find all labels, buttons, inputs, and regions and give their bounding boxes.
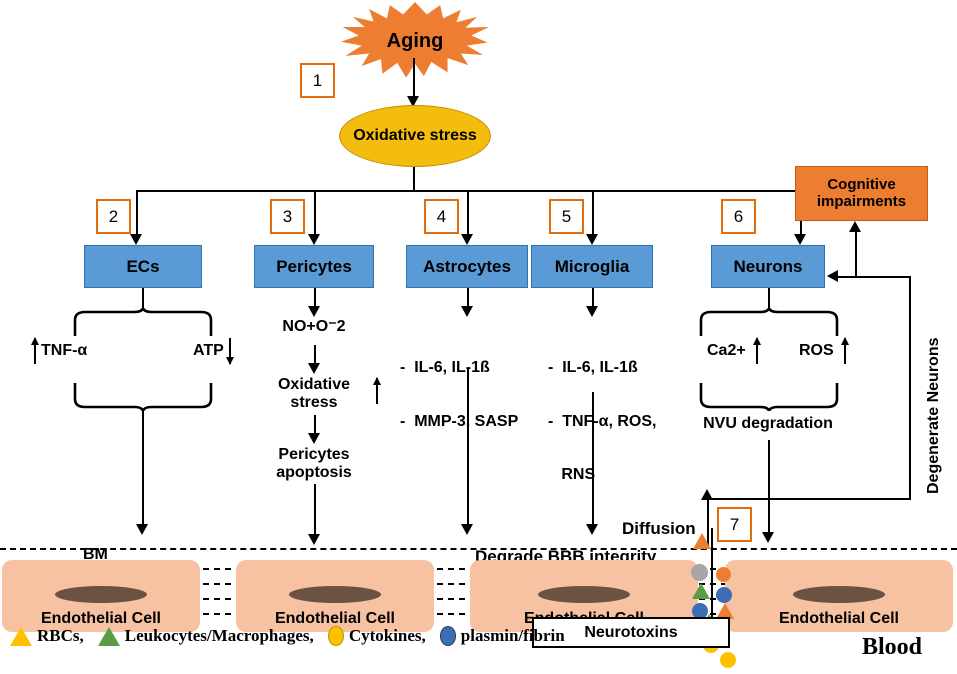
- pericytes-to-bbb-stem: [314, 484, 316, 536]
- astrocytes-item-2: - MMP-3, SASP: [400, 413, 518, 431]
- microglia-item-1: - IL-6, IL-1ß: [548, 359, 657, 377]
- degenerate-neurons-label: Degenerate Neurons: [925, 338, 943, 495]
- blood-label: Blood: [862, 634, 922, 661]
- cell-box-microglia[interactable]: Microglia: [531, 245, 653, 288]
- circle-blue-icon: [440, 626, 456, 646]
- nucleus-icon: [793, 586, 885, 603]
- oxidative-stress-label: Oxidative stress: [353, 128, 477, 145]
- step-6-value: 6: [734, 207, 743, 227]
- nucleus-icon: [538, 586, 630, 603]
- endothelial-cell-4: Endothelial Cell: [725, 560, 953, 632]
- ecs-marker-tnf-label: TNF-α: [41, 342, 87, 360]
- cell-box-pericytes[interactable]: Pericytes: [254, 245, 374, 288]
- neurons-to-bbb-stem: [768, 440, 770, 536]
- pericytes-no-o2-label: NO+O⁻2: [254, 318, 374, 336]
- up-arrow-icon: [30, 338, 40, 364]
- cell-box-ecs-label: ECs: [126, 257, 159, 277]
- particle-cytokine-icon-2: [720, 652, 736, 668]
- drop-head-astrocytes: [461, 234, 473, 245]
- step-number-5[interactable]: 5: [549, 199, 584, 234]
- tight-junction-2: [437, 568, 465, 628]
- step-number-7[interactable]: 7: [717, 507, 752, 542]
- aging-label: Aging: [341, 2, 489, 80]
- astrocytes-branch-head: [461, 306, 473, 317]
- neurons-marker-ros: ROS: [799, 338, 850, 364]
- figure-canvas: Aging 1 Oxidative stress 2 3 4 5 6 ECs P…: [0, 0, 957, 674]
- up-arrow-icon: [752, 338, 762, 364]
- cell-box-microglia-label: Microglia: [555, 257, 630, 277]
- pericytes-step3-head: [308, 433, 320, 444]
- drop-head-neurons: [794, 234, 806, 245]
- neurons-branch-stem: [768, 288, 770, 310]
- cell-box-neurons[interactable]: Neurons: [711, 245, 825, 288]
- ecs-marker-tnf: TNF-α: [30, 338, 87, 364]
- arrow-to-cognitive-stem: [855, 232, 857, 278]
- particle-plasmin-circle-icon: [716, 587, 732, 603]
- arrow-to-cognitive-head: [849, 221, 861, 232]
- endothelial-cell-4-label: Endothelial Cell: [725, 610, 953, 628]
- cell-box-astrocytes[interactable]: Astrocytes: [406, 245, 528, 288]
- cognitive-impairments-label: Cognitive impairments: [796, 177, 927, 209]
- astrocytes-cytokine-list: - IL-6, IL-1ß - MMP-3, SASP: [400, 323, 518, 466]
- ecs-marker-atp: ATP: [193, 338, 235, 364]
- degenerate-neurons-feedback-bottom: [707, 498, 911, 500]
- ecs-brace-bottom: [72, 383, 214, 411]
- step-2-value: 2: [109, 207, 118, 227]
- pericytes-step2-head: [308, 363, 320, 374]
- legend: RBCs, Leukocytes/Macrophages, Cytokines,…: [10, 622, 573, 650]
- legend-item-plasmin: plasmin/fibrin: [440, 626, 565, 646]
- legend-item-leukocytes: Leukocytes/Macrophages,: [98, 626, 314, 646]
- microglia-branch-head: [586, 306, 598, 317]
- neurons-brace-top: [698, 308, 840, 336]
- oxidative-stress-outflow: [413, 167, 415, 191]
- arrow-into-neurons-stem: [838, 276, 858, 278]
- neurotoxins-label: Neurotoxins: [584, 624, 677, 642]
- step-3-value: 3: [283, 207, 292, 227]
- cell-box-pericytes-label: Pericytes: [276, 257, 352, 277]
- microglia-to-bbb-head: [586, 524, 598, 535]
- neurons-marker-ros-label: ROS: [799, 342, 834, 360]
- distribution-bus: [136, 190, 802, 192]
- circle-yellow-icon: [328, 626, 344, 646]
- neurons-marker-ca: Ca2+: [707, 338, 762, 364]
- cognitive-impairments-box[interactable]: Cognitive impairments: [795, 166, 928, 221]
- astrocytes-item-1: - IL-6, IL-1ß: [400, 359, 518, 377]
- pericytes-oxidative-stress-label: Oxidative stress: [254, 376, 374, 412]
- legend-item-cytokines-label: Cytokines,: [349, 626, 426, 646]
- step-number-6[interactable]: 6: [721, 199, 756, 234]
- drop-head-pericytes: [308, 234, 320, 245]
- microglia-item-2: - TNF-α, ROS,: [548, 413, 657, 431]
- step-number-4[interactable]: 4: [424, 199, 459, 234]
- arrow-aging-to-oxidative-stem: [413, 58, 415, 98]
- nvu-degradation-label: NVU degradation: [688, 415, 848, 433]
- triangle-yellow-icon: [10, 627, 32, 646]
- step-1-value: 1: [313, 71, 322, 91]
- pericytes-to-bbb-head: [308, 534, 320, 545]
- drop-stem-ecs: [136, 190, 138, 238]
- degenerate-neurons-riser: [909, 276, 911, 500]
- neurons-marker-ca-label: Ca2+: [707, 342, 746, 360]
- microglia-item-3: RNS: [548, 466, 657, 484]
- neurons-to-bbb-head: [762, 532, 774, 543]
- step-number-3[interactable]: 3: [270, 199, 305, 234]
- microglia-to-bbb-stem: [592, 392, 594, 528]
- tight-junction-1: [203, 568, 231, 628]
- ecs-to-bbb-head: [136, 524, 148, 535]
- pericytes-apoptosis-label: Pericytes apoptosis: [254, 446, 374, 482]
- triangle-green-icon: [98, 627, 120, 646]
- drop-stem-pericytes: [314, 190, 316, 238]
- microglia-cytokine-list: - IL-6, IL-1ß - TNF-α, ROS, RNS: [548, 323, 657, 520]
- drop-stem-astrocytes: [467, 190, 469, 238]
- pericytes-oxidative-up-arrow-icon: [372, 378, 378, 404]
- particle-rbc-orange-icon: [693, 533, 711, 549]
- particle-orange-circle-icon: [716, 567, 731, 582]
- ecs-to-bbb-stem: [142, 410, 144, 528]
- ecs-marker-atp-label: ATP: [193, 342, 224, 360]
- nucleus-icon: [55, 586, 147, 603]
- diffusion-label: Diffusion: [622, 519, 696, 538]
- ecs-branch-stem: [142, 288, 144, 310]
- legend-item-plasmin-label: plasmin/fibrin: [461, 626, 565, 646]
- neurons-brace-bottom: [698, 383, 840, 411]
- cell-box-astrocytes-label: Astrocytes: [423, 257, 511, 277]
- pericytes-branch-head: [308, 306, 320, 317]
- ecs-brace-top: [72, 308, 214, 336]
- particle-leukocyte-icon: [692, 583, 710, 599]
- step-7-value: 7: [730, 515, 739, 535]
- cell-box-ecs[interactable]: ECs: [84, 245, 202, 288]
- step-number-2[interactable]: 2: [96, 199, 131, 234]
- astrocytes-to-bbb-head: [461, 524, 473, 535]
- legend-item-cytokines: Cytokines,: [328, 626, 426, 646]
- step-4-value: 4: [437, 207, 446, 227]
- cell-box-neurons-label: Neurons: [734, 257, 803, 277]
- drop-head-ecs: [130, 234, 142, 245]
- legend-item-rbcs-label: RBCs,: [37, 626, 84, 646]
- up-arrow-icon: [840, 338, 850, 364]
- degenerate-neurons-top-link: [855, 276, 910, 278]
- down-arrow-icon: [225, 338, 235, 364]
- oxidative-stress-node: Oxidative stress: [339, 105, 491, 167]
- astrocytes-to-bbb-stem: [467, 368, 469, 528]
- aging-burst: Aging: [341, 2, 489, 80]
- drop-stem-microglia: [592, 190, 594, 238]
- nucleus-icon: [289, 586, 381, 603]
- drop-head-microglia: [586, 234, 598, 245]
- step-5-value: 5: [562, 207, 571, 227]
- particle-gray-circle-icon: [691, 564, 708, 581]
- degenerate-neurons-feedback-head: [701, 489, 713, 500]
- legend-item-rbcs: RBCs,: [10, 626, 84, 646]
- legend-item-leukocytes-label: Leukocytes/Macrophages,: [125, 626, 314, 646]
- arrow-into-neurons-head: [827, 270, 838, 282]
- step-number-1[interactable]: 1: [300, 63, 335, 98]
